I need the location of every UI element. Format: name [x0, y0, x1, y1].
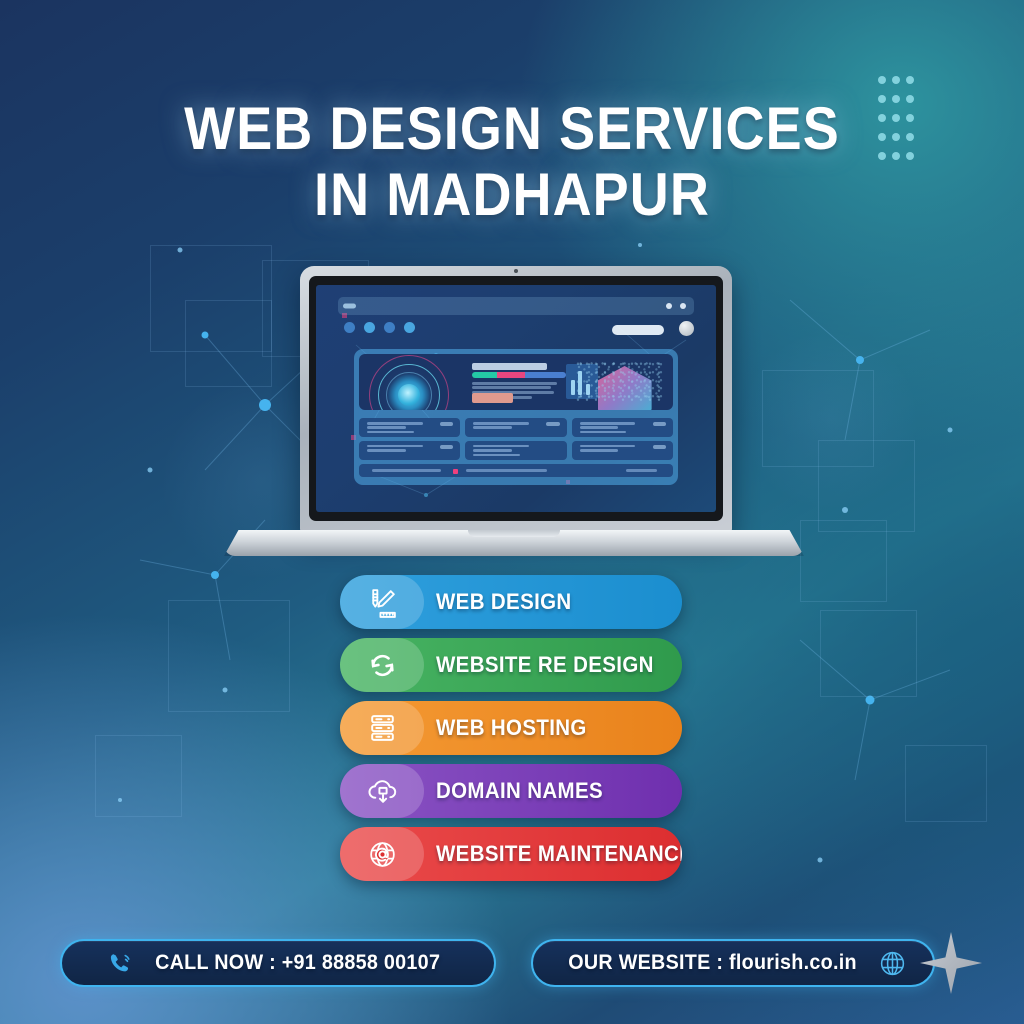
webcam-icon [514, 269, 518, 273]
dashboard-cards [354, 414, 678, 485]
card-row [359, 441, 673, 460]
service-item-website-re-design[interactable]: WEBSITE RE DESIGN [340, 638, 682, 692]
dashboard-card [359, 441, 460, 460]
card-row [359, 418, 673, 437]
laptop-lid [300, 266, 732, 534]
globe-at-icon [340, 827, 424, 881]
dashboard-card [465, 418, 566, 437]
address-bar-field [343, 303, 356, 308]
dashboard-panel [354, 349, 678, 485]
site-nav-dots [344, 322, 415, 333]
services-list: WEB DESIGN WEBSITE RE DESIGN [340, 575, 682, 890]
service-item-website-maintenance[interactable]: WEBSITE MAINTENANCE [340, 827, 682, 881]
headline-line-2: IN MADHAPUR [51, 162, 973, 228]
hero-button [472, 393, 513, 403]
globe-icon [878, 949, 907, 978]
pencil-ruler-icon [340, 575, 424, 629]
website-label: OUR WEBSITE : flourish.co.in [568, 951, 857, 975]
sparkle-icon [920, 932, 982, 994]
dashboard-hero [359, 354, 673, 411]
progress-bars [472, 372, 566, 378]
laptop-mockup [224, 266, 804, 566]
server-rack-icon [340, 701, 424, 755]
service-label: WEBSITE MAINTENANCE [436, 841, 682, 867]
service-label: DOMAIN NAMES [436, 778, 603, 804]
poster-canvas: WEB DESIGN SERVICES IN MADHAPUR [0, 0, 1024, 1024]
cloud-download-icon [340, 764, 424, 818]
refresh-arrows-icon [340, 638, 424, 692]
browser-dot [680, 303, 686, 309]
call-now-button[interactable]: CALL NOW : +91 88858 00107 [60, 939, 496, 987]
site-cta-button [612, 325, 664, 335]
dashboard-card [572, 418, 673, 437]
page-title: WEB DESIGN SERVICES IN MADHAPUR [51, 96, 973, 228]
service-label: WEB DESIGN [436, 589, 572, 615]
dashboard-card [572, 441, 673, 460]
world-map-graphic [576, 361, 664, 401]
dashboard-card [359, 418, 460, 437]
avatar [679, 321, 694, 336]
radial-hud-graphic [372, 358, 446, 410]
headline-line-1: WEB DESIGN SERVICES [184, 95, 840, 162]
dashboard-footer-bar [359, 464, 673, 478]
service-label: WEBSITE RE DESIGN [436, 652, 654, 678]
call-now-label: CALL NOW : +91 88858 00107 [155, 951, 440, 975]
laptop-screen [316, 285, 716, 512]
dashboard-card [465, 441, 566, 460]
service-item-web-design[interactable]: WEB DESIGN [340, 575, 682, 629]
laptop-bezel [309, 276, 723, 521]
website-button[interactable]: OUR WEBSITE : flourish.co.in [531, 939, 935, 987]
laptop-notch [468, 530, 560, 537]
service-item-web-hosting[interactable]: WEB HOSTING [340, 701, 682, 755]
phone-icon [106, 949, 134, 977]
hero-heading-placeholder [472, 363, 547, 370]
browser-address-bar [338, 297, 694, 314]
browser-dot [666, 303, 672, 309]
service-label: WEB HOSTING [436, 715, 587, 741]
service-item-domain-names[interactable]: DOMAIN NAMES [340, 764, 682, 818]
